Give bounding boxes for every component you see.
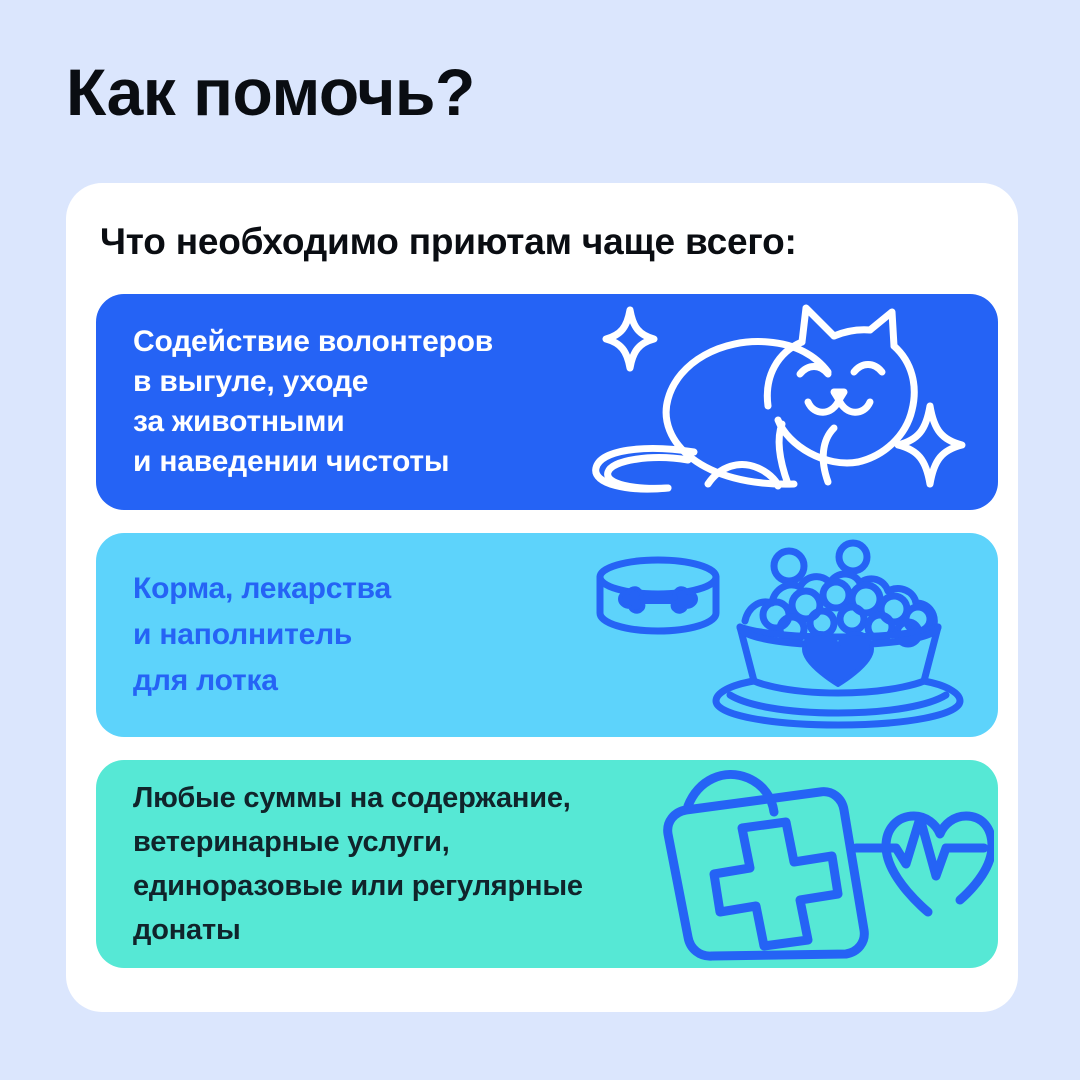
- card-volunteers-text: Содействие волонтеров в выгуле, уходе за…: [96, 322, 493, 482]
- card-volunteers[interactable]: Содействие волонтеров в выгуле, уходе за…: [96, 294, 998, 510]
- card-supplies-text: Корма, лекарства и наполнитель для лотка: [96, 566, 391, 704]
- card-volunteers-line-1: Содействие волонтеров: [133, 322, 493, 362]
- card-volunteers-line-3: за животными: [133, 402, 493, 442]
- card-donations-line-4: донаты: [133, 908, 583, 952]
- card-supplies[interactable]: Корма, лекарства и наполнитель для лотка: [96, 533, 998, 737]
- card-donations-text: Любые суммы на содержание, ветеринарные …: [96, 776, 583, 952]
- cat-sparkles-icon: [582, 294, 998, 510]
- card-donations[interactable]: Любые суммы на содержание, ветеринарные …: [96, 760, 998, 968]
- card-volunteers-line-4: и наведении чистоты: [133, 442, 493, 482]
- card-supplies-line-2: и наполнитель: [133, 612, 391, 658]
- panel-subtitle: Что необходимо приютам чаще всего:: [100, 220, 797, 264]
- card-supplies-line-1: Корма, лекарства: [133, 566, 391, 612]
- card-supplies-line-3: для лотка: [133, 658, 391, 704]
- content-panel: Что необходимо приютам чаще всего: Содей…: [66, 183, 1018, 1012]
- first-aid-kit-heartbeat-icon: [644, 760, 994, 968]
- needs-card-list: Содействие волонтеров в выгуле, уходе за…: [96, 294, 998, 968]
- card-donations-line-1: Любые суммы на содержание,: [133, 776, 583, 820]
- page-title: Как помочь?: [66, 58, 475, 127]
- card-donations-line-3: единоразовые или регулярные: [133, 864, 583, 908]
- poster-canvas: Как помочь? Что необходимо приютам чаще …: [0, 0, 1080, 1080]
- card-donations-line-2: ветеринарные услуги,: [133, 820, 583, 864]
- card-volunteers-line-2: в выгуле, уходе: [133, 362, 493, 402]
- food-bowl-can-icon: [580, 533, 998, 737]
